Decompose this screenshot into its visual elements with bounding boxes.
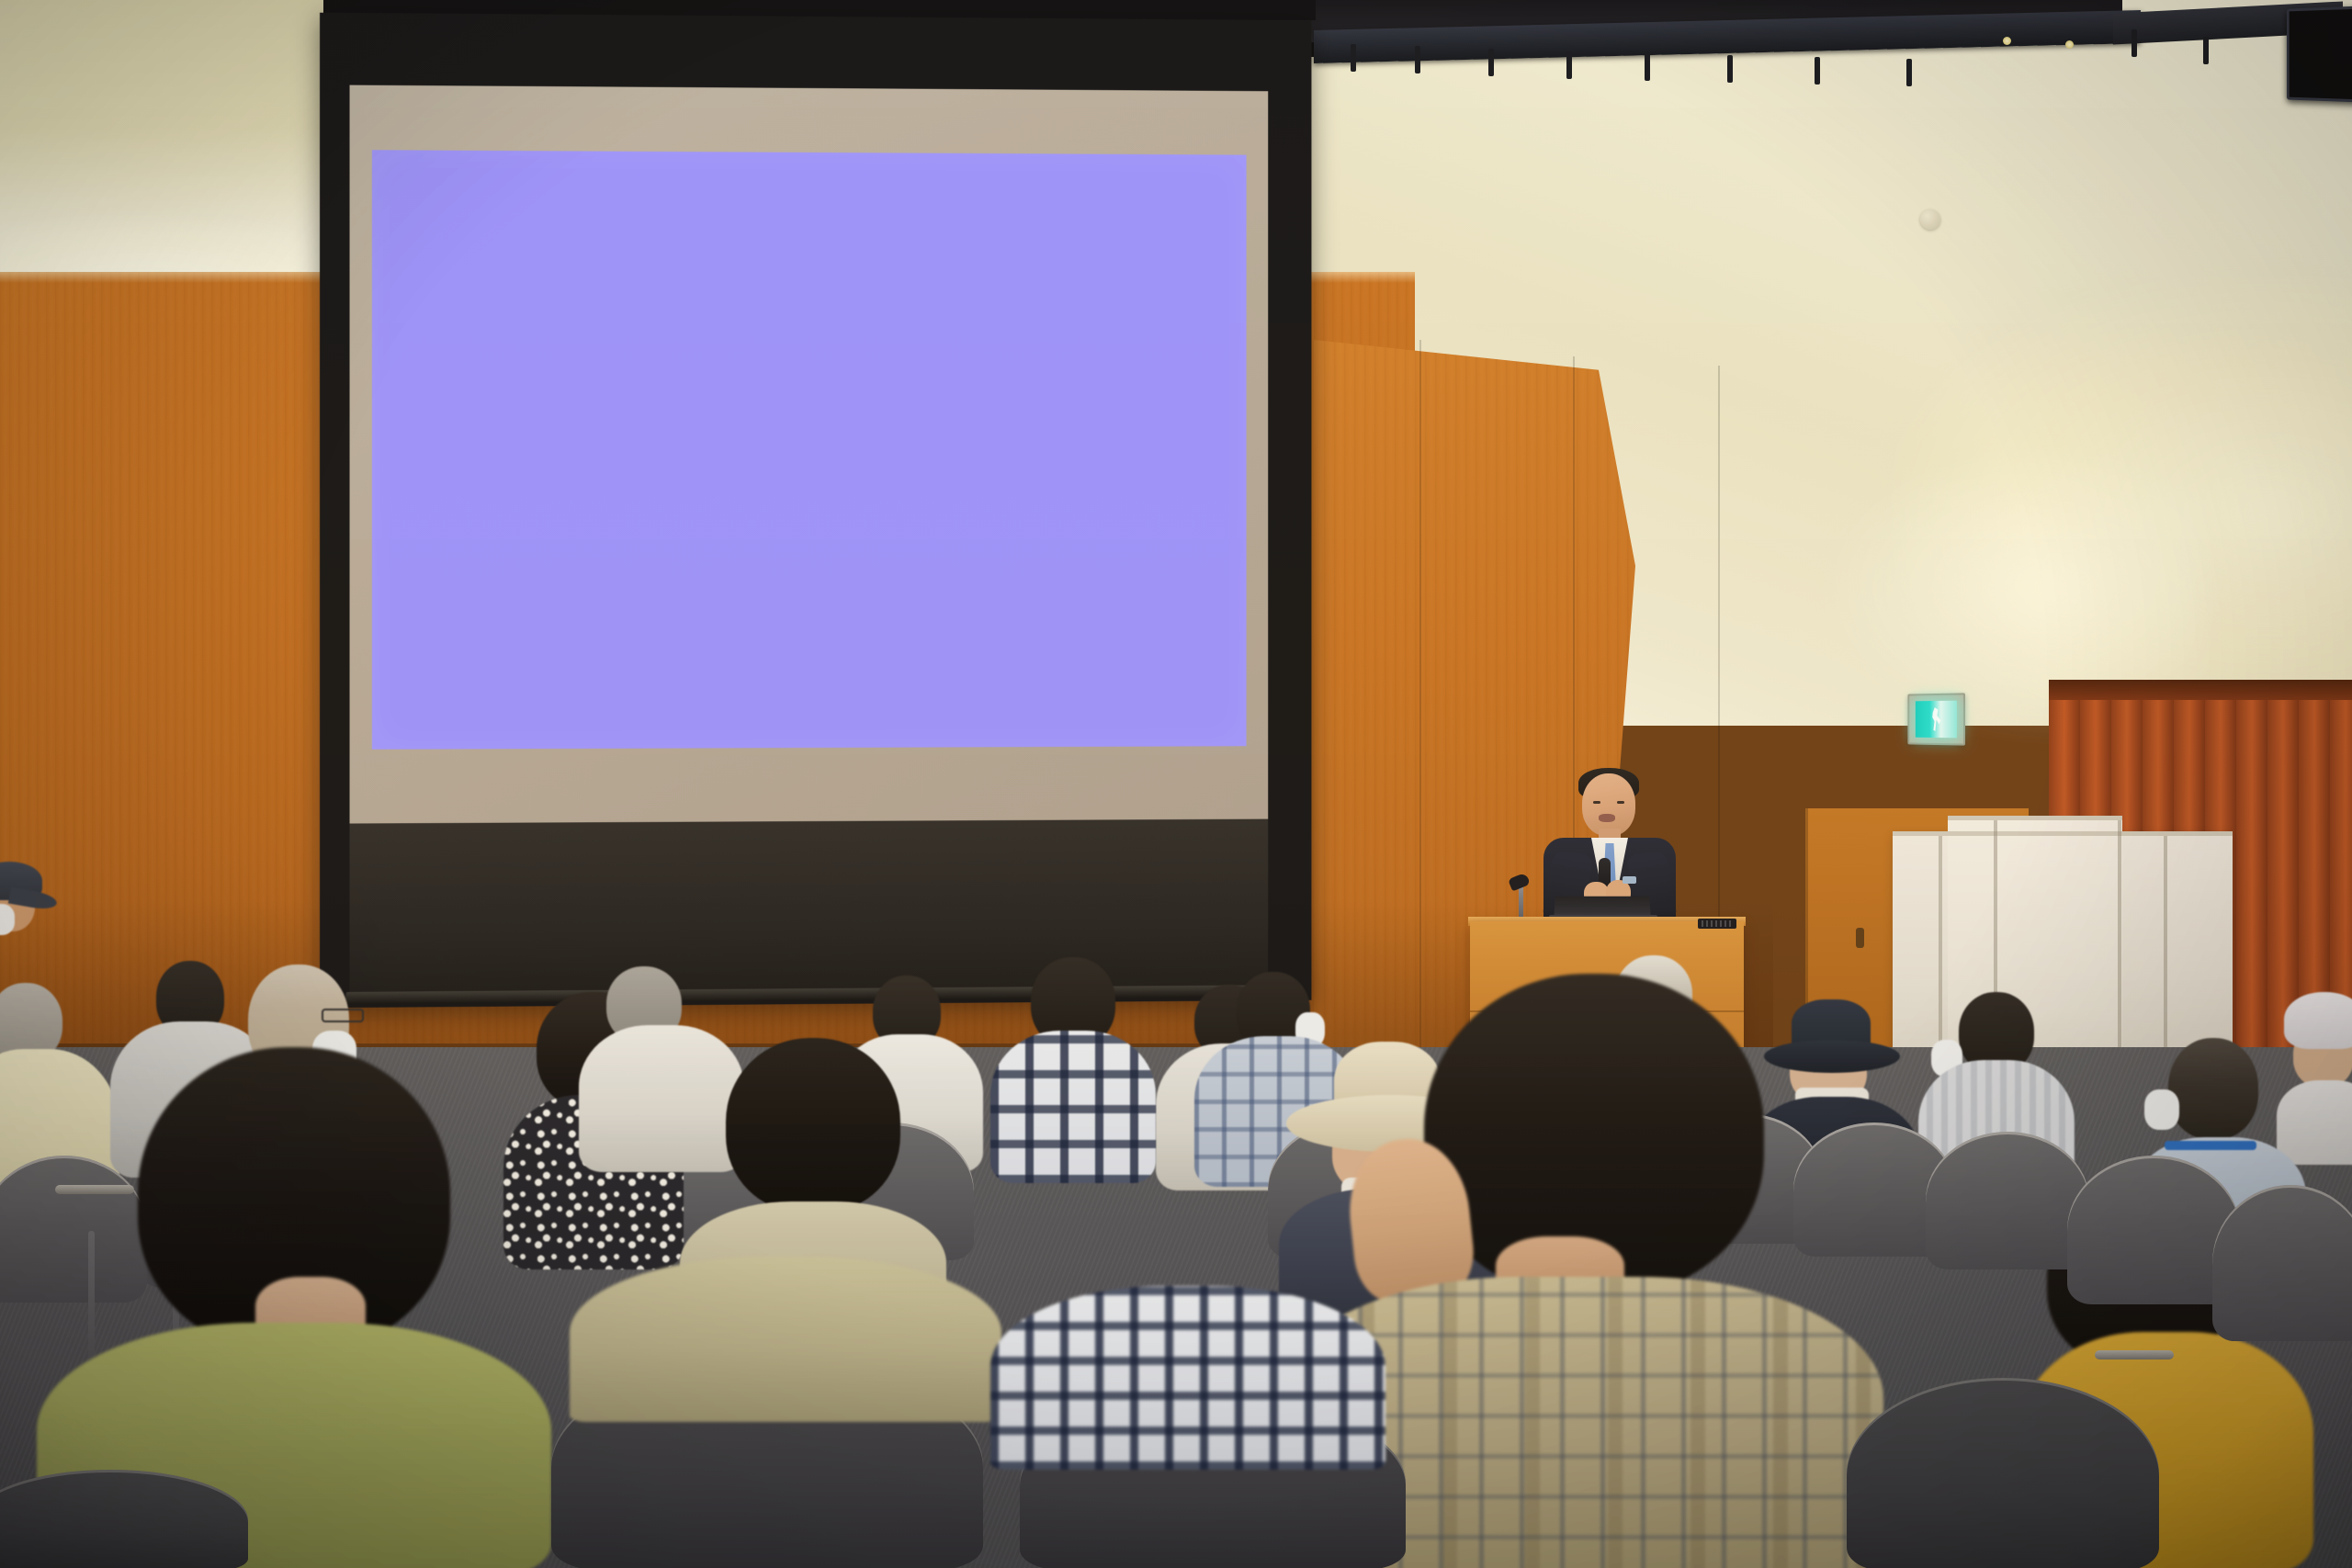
wall-mounted-monitor bbox=[2287, 6, 2352, 102]
audience-member-beige-shoulders bbox=[570, 1257, 1001, 1422]
truss-pin bbox=[2203, 37, 2209, 64]
face-mask bbox=[2144, 1089, 2179, 1130]
truss-pin bbox=[1351, 44, 1356, 72]
audience-member-cap-mask bbox=[0, 854, 66, 964]
beige-shirt-shoulders bbox=[570, 1257, 1001, 1422]
presenter-head bbox=[1582, 773, 1635, 836]
truss-pin bbox=[1727, 55, 1733, 83]
navy-plaid-shirt bbox=[990, 1286, 1385, 1470]
audience-member-navy-plaid bbox=[990, 957, 1156, 1178]
truss-pin bbox=[1488, 49, 1494, 76]
chair[interactable] bbox=[2212, 1185, 2352, 1341]
truss-pin bbox=[1415, 46, 1420, 73]
running-person-icon bbox=[1930, 707, 1941, 731]
projection-screen-surface bbox=[350, 85, 1269, 824]
curtain-track bbox=[2049, 680, 2352, 700]
chair[interactable] bbox=[1926, 1132, 2089, 1269]
projection-screen[interactable] bbox=[320, 13, 1311, 1009]
projected-image-area bbox=[372, 150, 1247, 750]
partition-top-edge bbox=[1893, 831, 2233, 836]
truss-pin bbox=[1645, 53, 1650, 81]
door-handle[interactable] bbox=[1856, 928, 1864, 948]
exit-sign-face bbox=[1916, 701, 1957, 739]
presenter-mouth bbox=[1599, 814, 1615, 822]
truss-light-bulb bbox=[2065, 40, 2074, 49]
truss-pin bbox=[2131, 29, 2137, 57]
lecture-hall-photograph bbox=[0, 0, 2352, 1568]
presenter-eye-right bbox=[1617, 801, 1624, 804]
navy-plaid-shirt bbox=[990, 1031, 1156, 1183]
chair-foreground[interactable] bbox=[1847, 1378, 2159, 1568]
chair-armrest bbox=[2095, 1350, 2174, 1359]
truss-light-bulb bbox=[2003, 37, 2011, 45]
head-dark-bob-hair bbox=[726, 1038, 900, 1213]
presenter-eye-left bbox=[1593, 801, 1600, 804]
head-greying-hair bbox=[2168, 1038, 2258, 1139]
emergency-exit-sign bbox=[1907, 693, 1965, 745]
truss-pin bbox=[1815, 57, 1820, 85]
wristwatch bbox=[1623, 876, 1636, 884]
truss-pin bbox=[1906, 59, 1912, 86]
eyeglasses bbox=[322, 1009, 364, 1022]
truss-pin bbox=[1566, 51, 1572, 79]
ceiling-speaker-icon bbox=[1920, 209, 1940, 230]
audience-member-navy-plaid-foreground bbox=[990, 1286, 1385, 1470]
blue-lanyard bbox=[2165, 1141, 2256, 1150]
partition-top-edge bbox=[1948, 816, 2122, 820]
remote-buttons bbox=[1702, 920, 1733, 927]
